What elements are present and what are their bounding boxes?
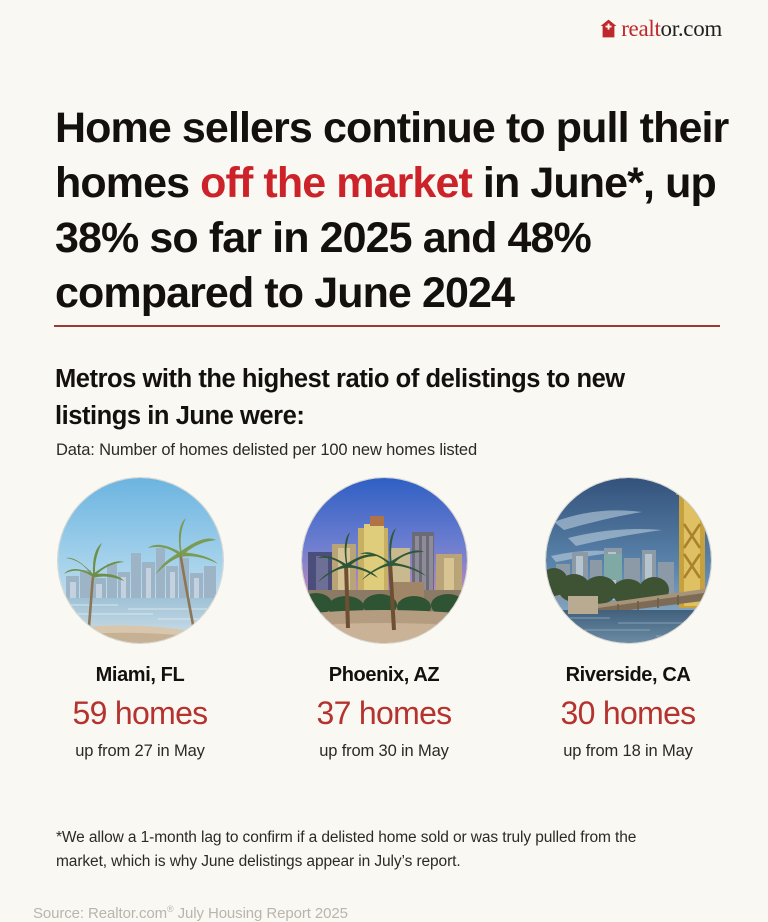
- city-card-miami: Miami, FL 59 homes up from 27 in May: [58, 478, 223, 760]
- city-card-phoenix: Phoenix, AZ 37 homes up from 30 in May: [302, 478, 467, 760]
- logo-wordmark-dark: or.com: [661, 16, 722, 41]
- realtor-logo[interactable]: realtor.com: [600, 17, 722, 40]
- page-title: Home sellers continue to pull their home…: [55, 101, 735, 321]
- section-divider: [54, 325, 720, 327]
- house-icon: [600, 19, 617, 38]
- footnote: *We allow a 1-month lag to confirm if a …: [56, 826, 656, 874]
- city-subtext: up from 30 in May: [319, 743, 449, 760]
- data-caption: Data: Number of homes delisted per 100 n…: [56, 441, 477, 460]
- source-line: Source: Realtor.com® July Housing Report…: [33, 904, 348, 922]
- city-value: 30 homes: [561, 697, 696, 729]
- source-prefix: Source: Realtor.com: [33, 905, 167, 922]
- city-card-riverside: Riverside, CA 30 homes up from 18 in May: [546, 478, 711, 760]
- city-subtext: up from 18 in May: [563, 743, 693, 760]
- city-subtext: up from 27 in May: [75, 743, 205, 760]
- miami-skyline-photo: [58, 478, 223, 643]
- city-stats-row: Miami, FL 59 homes up from 27 in May: [0, 478, 768, 760]
- headline-highlight: off the market: [200, 159, 472, 207]
- logo-wordmark: realtor.com: [621, 17, 722, 40]
- city-name: Riverside, CA: [566, 665, 691, 685]
- city-name: Miami, FL: [96, 665, 185, 685]
- city-value: 59 homes: [73, 697, 208, 729]
- section-subtitle: Metros with the highest ratio of delisti…: [55, 361, 695, 435]
- phoenix-skyline-photo: [302, 478, 467, 643]
- city-name: Phoenix, AZ: [329, 665, 439, 685]
- city-value: 37 homes: [317, 697, 452, 729]
- logo-wordmark-red: realt: [621, 16, 660, 41]
- riverside-skyline-photo: [546, 478, 711, 643]
- source-suffix: July Housing Report 2025: [174, 905, 348, 922]
